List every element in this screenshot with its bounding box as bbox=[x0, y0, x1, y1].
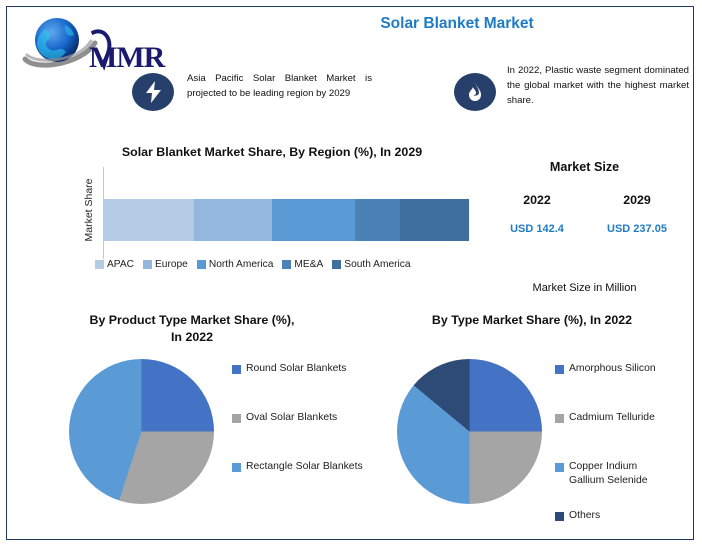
pie-legend-item: Round Solar Blankets bbox=[232, 362, 367, 409]
infographic-card: MMR Solar Blanket Market Asia Pacific So… bbox=[6, 6, 694, 540]
legend-label: Copper IndiumGallium Selenide bbox=[569, 460, 648, 488]
bar-segment bbox=[400, 199, 469, 241]
bar-legend-item: ME&A bbox=[282, 259, 323, 270]
legend-swatch bbox=[555, 365, 564, 374]
pie-legend-item: Copper IndiumGallium Selenide bbox=[555, 460, 700, 507]
stacked-bar bbox=[104, 199, 469, 241]
legend-swatch bbox=[555, 463, 564, 472]
market-size-year-2022: 2022 bbox=[487, 193, 587, 207]
header-note-right: In 2022, Plastic waste segment dominated… bbox=[507, 63, 689, 108]
market-size-title: Market Size bbox=[477, 160, 692, 174]
type-pie-legend: Amorphous SiliconCadmium TellurideCopper… bbox=[555, 362, 700, 525]
bar-legend-item: South America bbox=[332, 259, 410, 270]
logo-wordmark: MMR bbox=[89, 41, 164, 75]
legend-label: North America bbox=[209, 259, 274, 270]
bar-chart-title: Solar Blanket Market Share, By Region (%… bbox=[67, 145, 477, 159]
legend-label: Europe bbox=[155, 259, 188, 270]
legend-label: Others bbox=[569, 509, 600, 523]
legend-swatch bbox=[555, 414, 564, 423]
pie-legend-item: Amorphous Silicon bbox=[555, 362, 700, 409]
bar-segment bbox=[194, 199, 272, 241]
legend-label: Round Solar Blankets bbox=[246, 362, 347, 376]
legend-label: South America bbox=[344, 259, 410, 270]
legend-swatch bbox=[555, 512, 564, 521]
legend-swatch bbox=[232, 414, 241, 423]
product-type-pie-title-line2: In 2022 bbox=[32, 329, 352, 346]
market-size-footnote: Market Size in Million bbox=[477, 282, 692, 294]
legend-swatch bbox=[197, 260, 206, 269]
legend-label: Rectangle Solar Blankets bbox=[246, 460, 363, 474]
legend-swatch bbox=[232, 463, 241, 472]
lightning-bolt-icon bbox=[132, 73, 174, 111]
page-title: Solar Blanket Market bbox=[307, 15, 607, 33]
bar-legend-item: APAC bbox=[95, 259, 134, 270]
legend-swatch bbox=[232, 365, 241, 374]
legend-swatch bbox=[332, 260, 341, 269]
flame-icon bbox=[454, 73, 496, 111]
pie-legend-item: Cadmium Telluride bbox=[555, 411, 700, 458]
legend-swatch bbox=[282, 260, 291, 269]
legend-label: APAC bbox=[107, 259, 134, 270]
market-size-value-2029: USD 237.05 bbox=[587, 223, 687, 235]
legend-swatch bbox=[95, 260, 104, 269]
type-pie-chart bbox=[397, 359, 542, 504]
market-size-year-2029: 2029 bbox=[587, 193, 687, 207]
product-type-pie-title-line1: By Product Type Market Share (%), bbox=[32, 312, 352, 329]
legend-label: Amorphous Silicon bbox=[569, 362, 656, 376]
product-type-pie-chart bbox=[69, 359, 214, 504]
product-type-pie-legend: Round Solar BlanketsOval Solar BlanketsR… bbox=[232, 362, 367, 509]
legend-label: ME&A bbox=[294, 259, 323, 270]
legend-label: Cadmium Telluride bbox=[569, 411, 655, 425]
header-note-left: Asia Pacific Solar Blanket Market is pro… bbox=[187, 71, 372, 101]
type-pie-title: By Type Market Share (%), In 2022 bbox=[367, 312, 697, 329]
bar-segment bbox=[355, 199, 400, 241]
legend-label: Oval Solar Blankets bbox=[246, 411, 337, 425]
pie-legend-item: Rectangle Solar Blankets bbox=[232, 460, 367, 507]
market-size-value-2022: USD 142.4 bbox=[487, 223, 587, 235]
bar-chart-y-axis-label: Market Share bbox=[83, 165, 103, 255]
pie-legend-item: Oval Solar Blankets bbox=[232, 411, 367, 458]
legend-swatch bbox=[143, 260, 152, 269]
pie-legend-item: Others bbox=[555, 509, 700, 523]
bar-legend-item: Europe bbox=[143, 259, 188, 270]
product-type-pie-title: By Product Type Market Share (%), In 202… bbox=[32, 312, 352, 346]
bar-segment bbox=[104, 199, 194, 241]
bar-chart-legend: APACEuropeNorth AmericaME&ASouth America bbox=[95, 259, 480, 270]
bar-segment bbox=[272, 199, 355, 241]
mmr-logo: MMR bbox=[21, 15, 171, 77]
type-pie-title-line1: By Type Market Share (%), In 2022 bbox=[367, 312, 697, 329]
bar-legend-item: North America bbox=[197, 259, 274, 270]
